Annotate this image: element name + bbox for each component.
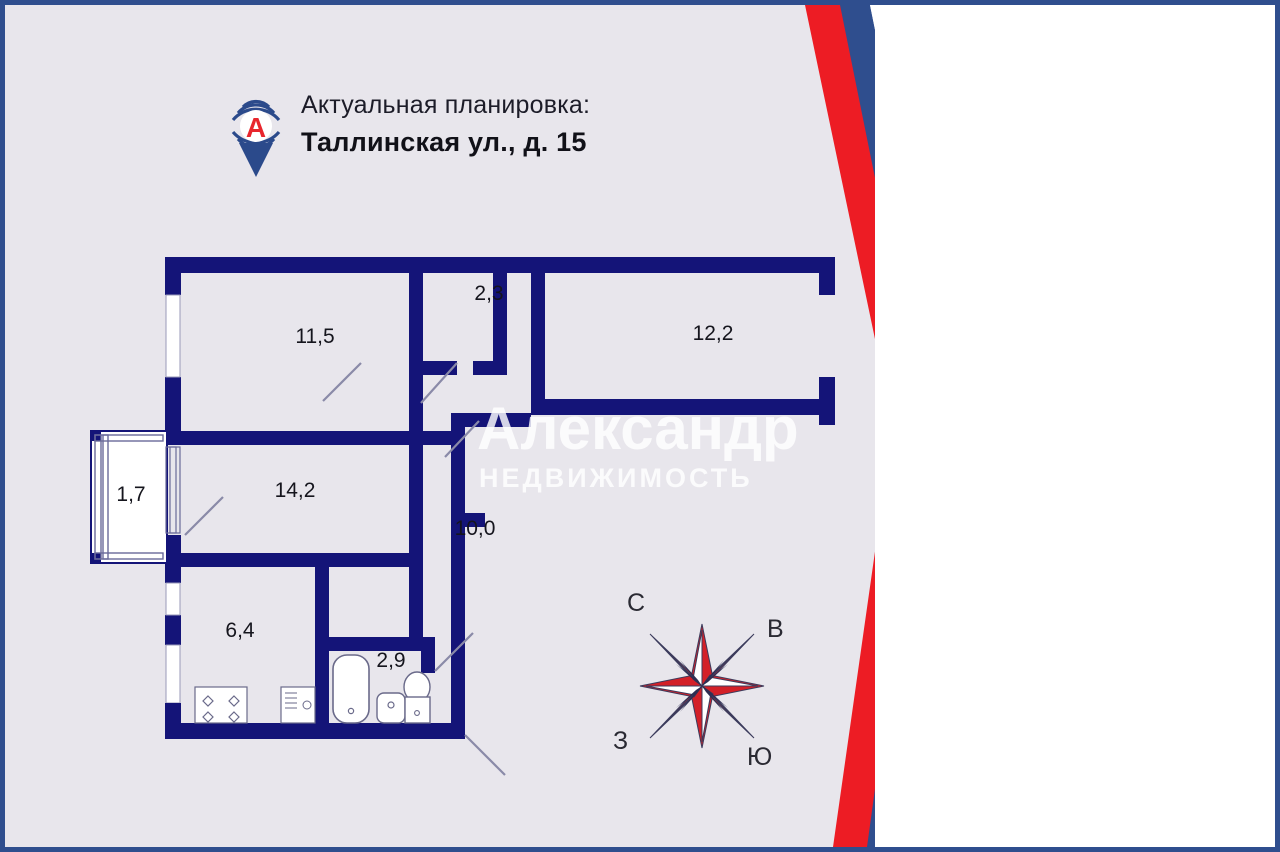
map-pin-a-icon: A: [227, 91, 285, 181]
washbasin-icon: [377, 693, 405, 723]
kitchen-sink-icon: [281, 687, 315, 723]
plan-address: Таллинская ул., д. 15: [301, 127, 587, 158]
room-area-1-7: 1,7: [116, 483, 145, 506]
stove-icon: [195, 687, 247, 723]
compass-rose-icon: [627, 611, 777, 761]
svg-text:A: A: [246, 112, 266, 143]
room-area-2-9: 2,9: [376, 649, 405, 672]
bathtub-icon: [333, 655, 369, 723]
room-area-10-0: 10,0: [455, 517, 496, 540]
room-area-12-2: 12,2: [693, 322, 734, 345]
room-area-2-3: 2,3: [474, 282, 503, 305]
room-area-14-2: 14,2: [275, 479, 316, 502]
floorplan-page: A Актуальная планировка: Таллинская ул.,…: [0, 0, 1280, 852]
info-panel: Александр НЕДВИЖИМОСТЬ Комнат 3 Этаж 3/5…: [875, 5, 1275, 847]
toilet-icon: [404, 672, 430, 723]
plan-caption: Актуальная планировка:: [301, 91, 590, 120]
room-area-11-5: 11,5: [295, 325, 334, 348]
address-header: A Актуальная планировка: Таллинская ул.,…: [227, 91, 697, 187]
room-area-6-4: 6,4: [225, 619, 255, 642]
compass-label-west: З: [613, 727, 628, 756]
compass: С В З Ю: [585, 583, 815, 783]
